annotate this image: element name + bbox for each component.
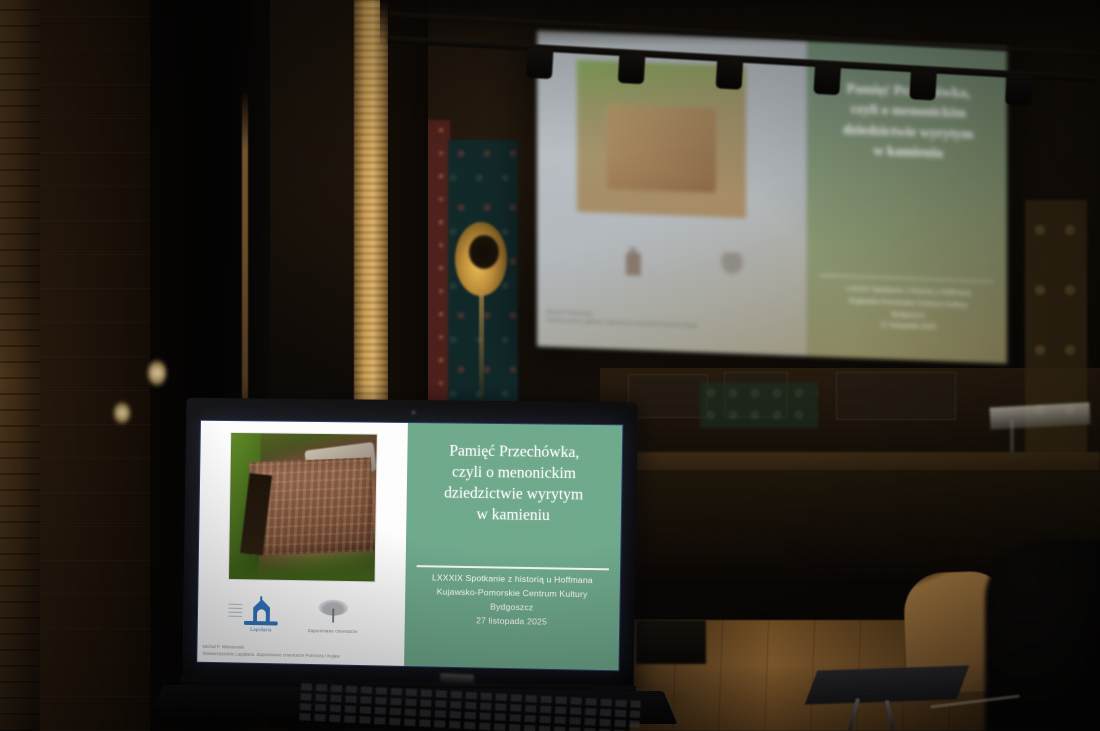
slide-subtitle-line: 27 listopada 2025 [411, 613, 613, 631]
thin-wooden-post [242, 90, 248, 420]
warm-bulb-icon [148, 360, 166, 386]
projection-subtitle: LXXXIX Spotkanie z historią u Hoffmana K… [814, 282, 1002, 336]
logo-base [244, 621, 278, 626]
stage-spotlight-icon [909, 69, 937, 100]
dark-wood-wall-panel [36, 0, 156, 731]
tapestry-green [700, 382, 818, 428]
gravestone-photo [228, 432, 377, 583]
presentation-slide: Lapidaria Zapomniane cmentarze [197, 421, 622, 671]
lapidaria-logo: Lapidaria [244, 596, 278, 633]
brass-gong-core [469, 235, 499, 269]
stage-spotlight-icon [716, 58, 744, 89]
stage-spotlight-icon [526, 48, 554, 79]
laptop-indicator-light [440, 673, 474, 685]
stone-pillar-shading [0, 0, 40, 731]
tree-trunk [332, 609, 334, 623]
lapidaria-logo-caption: Lapidaria [250, 628, 272, 633]
stage-spotlight-icon [618, 53, 646, 84]
grass-bottom [229, 553, 374, 582]
slide-footer: Michał P. Wiśniewski Stowarzyszenie Lapi… [202, 643, 401, 661]
slide-divider [416, 565, 609, 570]
stage-spotlight-icon [813, 64, 841, 95]
person-silhouette [985, 540, 1100, 731]
tree-logo-caption: Zapomniane cmentarze [308, 628, 358, 634]
slide-title-line: czyli o menonickim [415, 461, 613, 485]
slide-title: Pamięć Przechówka, czyli o menonickim dz… [415, 440, 614, 527]
slide-left-panel: Lapidaria Zapomniane cmentarze [197, 421, 408, 666]
tree-logo-icon [717, 251, 747, 278]
projection-logos [584, 228, 781, 298]
conference-room-photo: Pamięć Przechówka, czyli o menonickim dz… [0, 0, 1100, 731]
laptop-lid: Lapidaria Zapomniane cmentarze [182, 398, 638, 693]
wooden-chair-seat [805, 665, 970, 704]
lapidaria-gate-icon [244, 596, 278, 626]
warm-bulb-icon [114, 402, 130, 424]
slide-subtitle: LXXXIX Spotkanie z historią u Hoffmana K… [411, 571, 614, 631]
tree-logo-icon [316, 598, 350, 627]
laptop-screen[interactable]: Lapidaria Zapomniane cmentarze [196, 420, 623, 672]
stage-spotlight-icon [1005, 75, 1033, 106]
slide-right-panel: Pamięć Przechówka, czyli o menonickim dz… [404, 423, 622, 670]
slide-title-line: w kamieniu [415, 503, 613, 527]
webcam-icon [410, 409, 417, 416]
wall-frame [836, 372, 956, 420]
tree-logo: Zapomniane cmentarze [308, 598, 358, 634]
slide-title-line: Pamięć Przechówka, [416, 440, 614, 464]
logo-text-lines [229, 604, 243, 618]
lapidaria-logo-icon [618, 247, 648, 276]
brass-gong-stand [479, 290, 484, 400]
slide-logos: Lapidaria Zapomniane cmentarze [214, 590, 388, 642]
laptop[interactable]: Lapidaria Zapomniane cmentarze [172, 400, 647, 731]
slide-title-line: dziedzictwie wyrytym [415, 482, 613, 506]
